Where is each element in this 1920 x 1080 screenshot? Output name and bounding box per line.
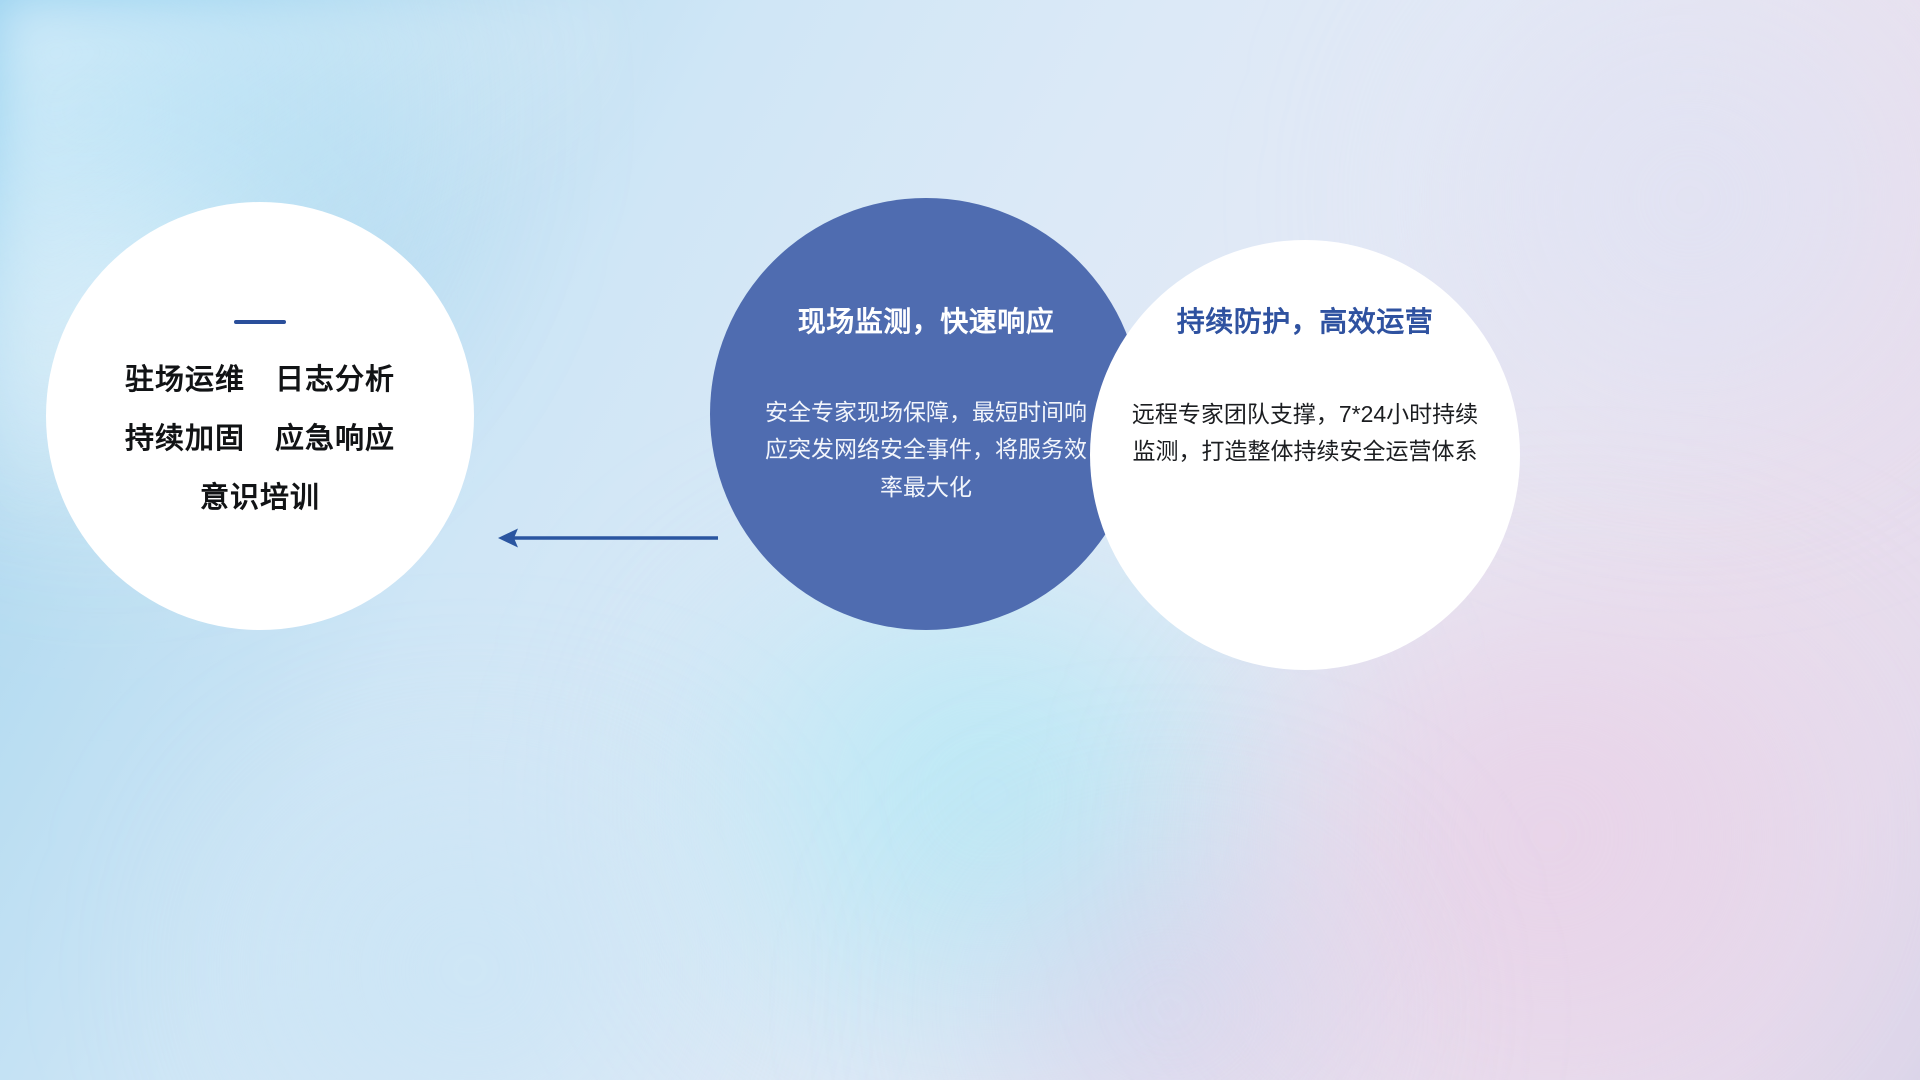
horizontal-rule-icon	[234, 320, 286, 324]
arrow-left-icon	[480, 515, 720, 561]
capability-line-1: 驻场运维 日志分析	[46, 366, 474, 395]
continuous-protection-body: 远程专家团队支撑，7*24小时持续监测，打造整体持续安全运营体系	[1090, 396, 1520, 471]
onsite-monitoring-circle[interactable]: 现场监测，快速响应 安全专家现场保障，最短时间响应突发网络安全事件，将服务效率最…	[710, 198, 1142, 630]
onsite-monitoring-body: 安全专家现场保障，最短时间响应突发网络安全事件，将服务效率最大化	[710, 394, 1142, 506]
capability-list: 驻场运维 日志分析 持续加固 应急响应 意识培训	[46, 366, 474, 513]
capability-list-circle[interactable]: 驻场运维 日志分析 持续加固 应急响应 意识培训	[46, 202, 474, 630]
onsite-monitoring-title: 现场监测，快速响应	[710, 300, 1142, 340]
slide-canvas: 驻场运维 日志分析 持续加固 应急响应 意识培训 现场监测，快速响应 安全专家现…	[0, 0, 1920, 1080]
continuous-protection-title: 持续防护，高效运营	[1090, 300, 1520, 340]
capability-line-3: 意识培训	[46, 484, 474, 513]
continuous-protection-circle[interactable]: 持续防护，高效运营 远程专家团队支撑，7*24小时持续监测，打造整体持续安全运营…	[1090, 240, 1520, 670]
capability-line-2: 持续加固 应急响应	[46, 425, 474, 454]
flow-arrow-left	[480, 515, 720, 561]
